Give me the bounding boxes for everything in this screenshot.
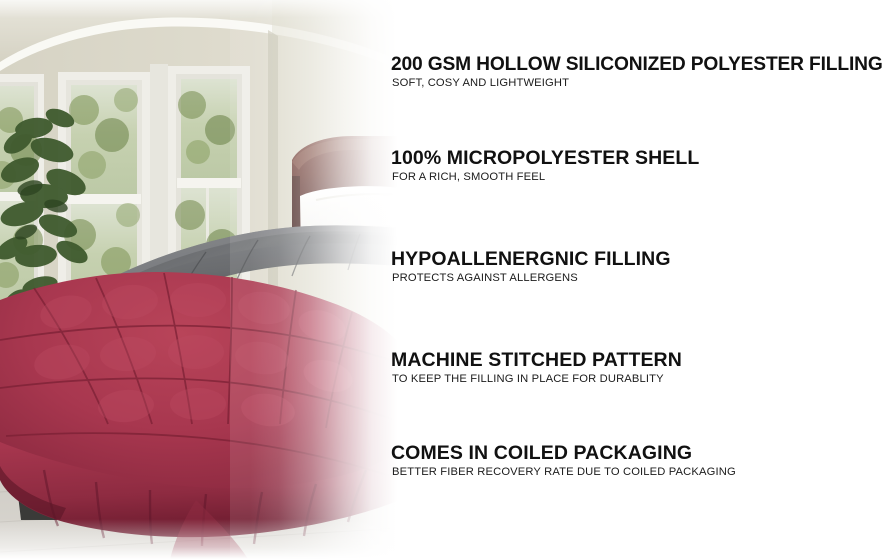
feature-headline: 100% MICROPOLYESTER SHELL [391,148,699,169]
feature-subline: FOR A RICH, SMOOTH FEEL [392,171,699,184]
feature-headline: COMES IN COILED PACKAGING [391,443,736,464]
feature-item-shell: 100% MICROPOLYESTER SHELL FOR A RICH, SM… [391,148,699,184]
feature-subline: TO KEEP THE FILLING IN PLACE FOR DURABLI… [392,373,682,386]
feature-headline: MACHINE STITCHED PATTERN [391,350,682,371]
feature-subline: BETTER FIBER RECOVERY RATE DUE TO COILED… [392,466,736,479]
feature-subline: PROTECTS AGAINST ALLERGENS [392,272,671,285]
feature-subline: SOFT, COSY AND LIGHTWEIGHT [392,77,883,90]
product-photo [0,0,400,559]
feature-list: 200 GSM HOLLOW SILICONIZED POLYESTER FIL… [391,0,894,559]
feature-headline: HYPOALLENERGNIC FILLING [391,249,671,270]
product-feature-infographic: 200 GSM HOLLOW SILICONIZED POLYESTER FIL… [0,0,894,559]
bedroom-scene-illustration [0,0,400,559]
feature-item-filling: 200 GSM HOLLOW SILICONIZED POLYESTER FIL… [391,54,883,90]
feature-item-packaging: COMES IN COILED PACKAGING BETTER FIBER R… [391,443,736,479]
feature-headline: 200 GSM HOLLOW SILICONIZED POLYESTER FIL… [391,54,883,75]
feature-item-stitching: MACHINE STITCHED PATTERN TO KEEP THE FIL… [391,350,682,386]
feature-item-hypoallergenic: HYPOALLENERGNIC FILLING PROTECTS AGAINST… [391,249,671,285]
